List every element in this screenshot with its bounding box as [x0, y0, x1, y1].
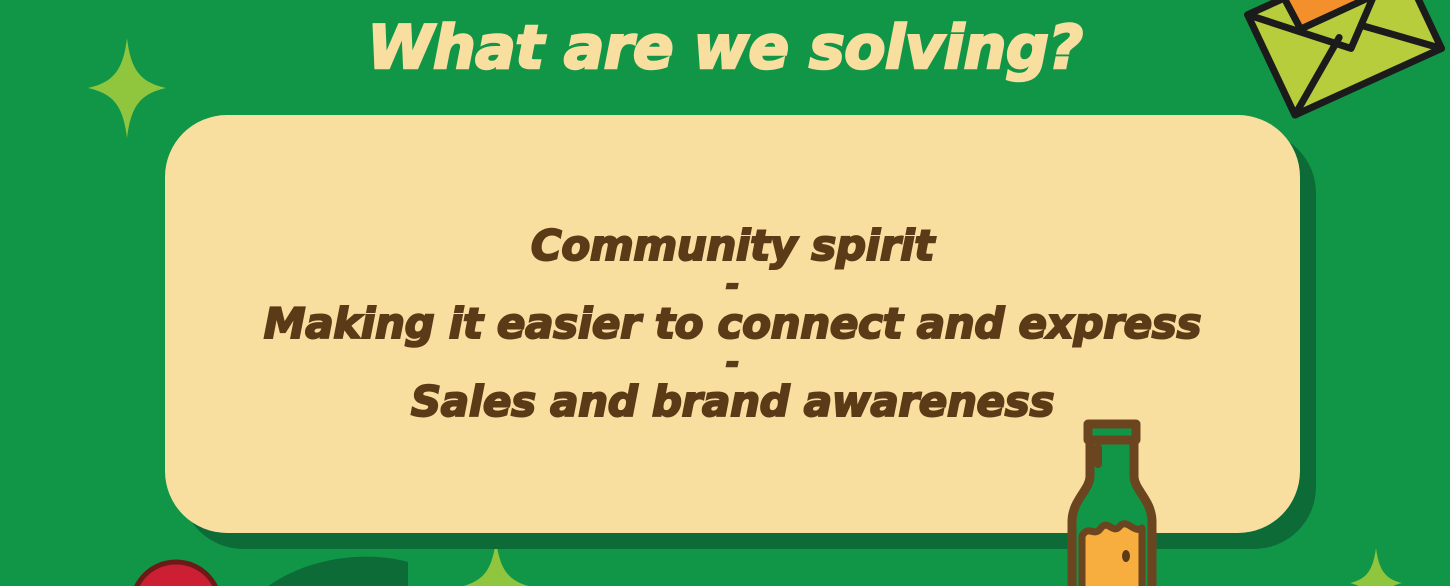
envelope-icon: [1233, 0, 1450, 120]
card-line-3: Sales and brand awareness: [411, 375, 1054, 429]
slide-canvas: What are we solving?: [0, 0, 1450, 586]
card-separator-2: -: [726, 351, 740, 375]
green-swoosh-decoration: [238, 556, 408, 586]
card-separator-1: -: [726, 273, 740, 297]
red-circle-decoration: [128, 558, 224, 586]
beer-bottle-icon: [1056, 418, 1168, 586]
sparkle-icon-bottom-right: [1350, 548, 1402, 586]
sparkle-icon-top-left: [88, 38, 166, 138]
